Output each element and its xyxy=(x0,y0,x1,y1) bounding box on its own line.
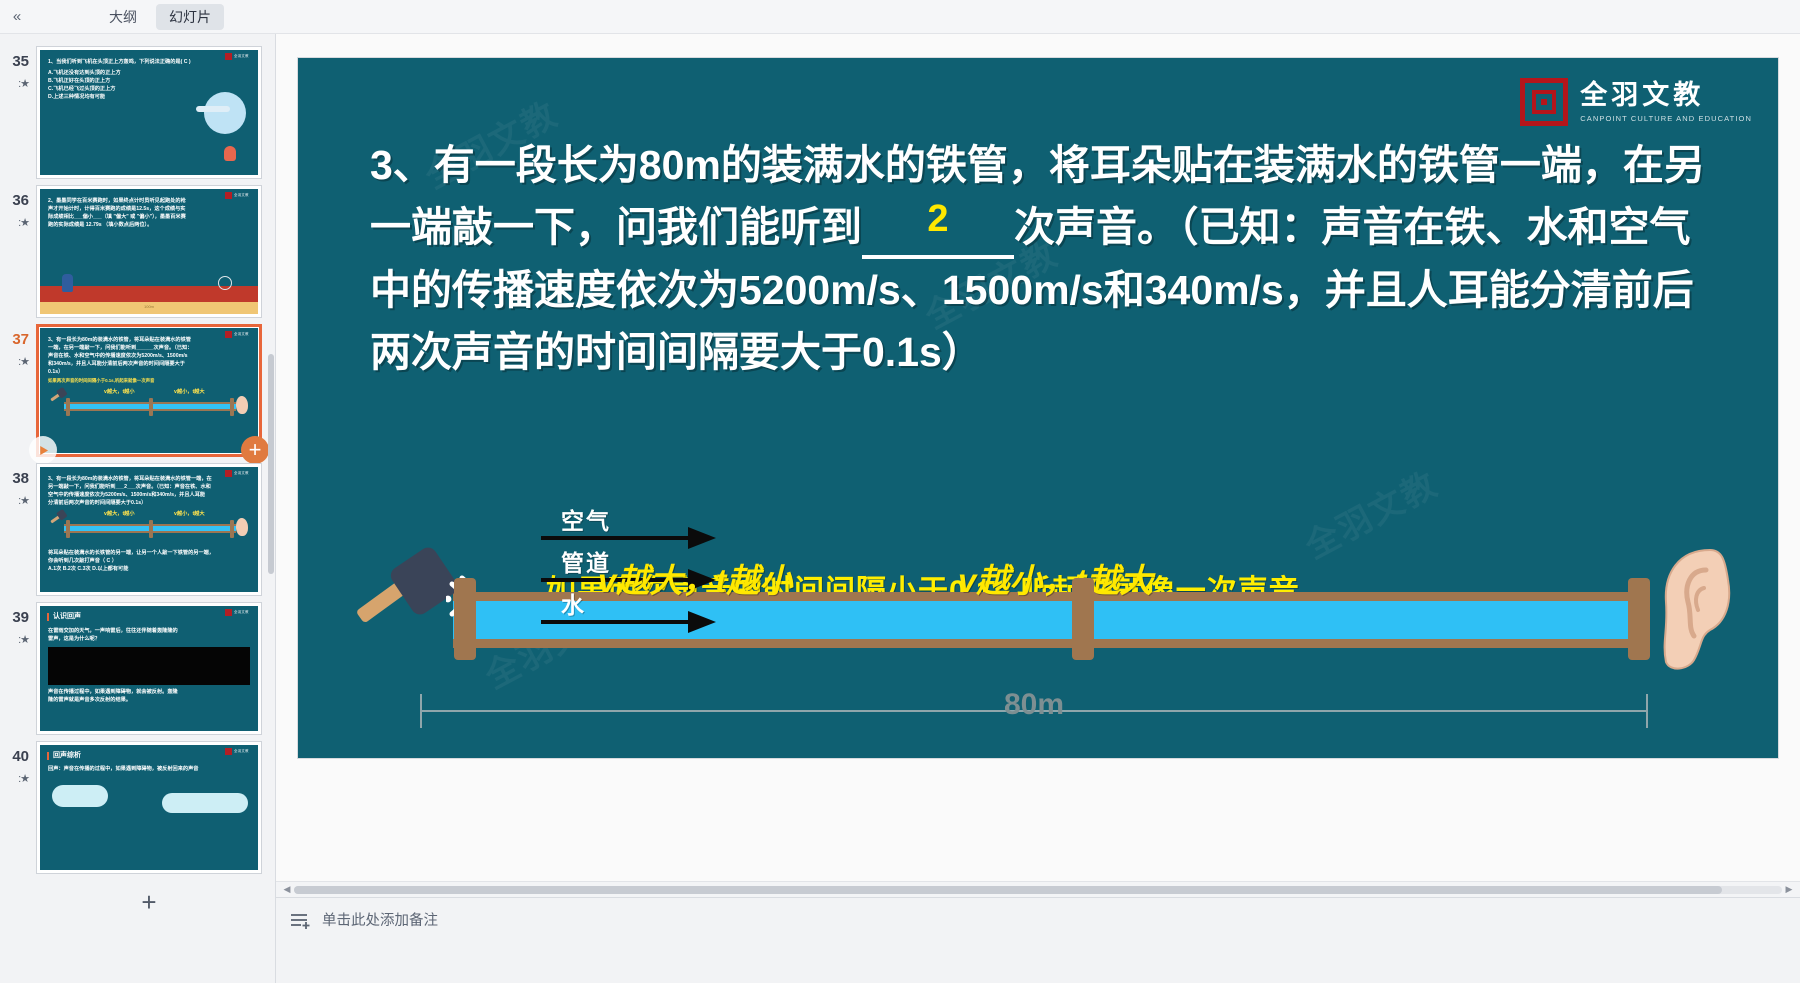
chevron-right-icon[interactable]: ▶ xyxy=(1782,884,1796,895)
ear-icon xyxy=(236,518,248,536)
star-icon[interactable]: :★ xyxy=(0,633,29,646)
cloud-shape xyxy=(52,785,108,807)
thumb-logo: 全羽文教 xyxy=(225,748,255,755)
thumbnail-canvas: 全羽文教 1、当我们听到飞机在头顶正上方轰鸣，下列说法正确的是( C ) A.飞… xyxy=(40,50,258,175)
thumb-line: 跑的实际成绩是 12.79s （填小数点后两位）。 xyxy=(48,221,251,229)
slide-number: 35 xyxy=(0,54,29,70)
star-icon[interactable]: :★ xyxy=(0,216,29,229)
notes-placeholder[interactable]: 单击此处添加备注 xyxy=(322,912,438,930)
mini-annot-right: v越小，t越大 xyxy=(174,510,205,518)
slide-number: 39 xyxy=(0,610,29,626)
hammer-icon xyxy=(50,514,62,524)
pipe-support xyxy=(1072,578,1094,660)
mini-annot-left: v越大，t越小 xyxy=(104,510,135,518)
slide-meta-40: 40 :★ xyxy=(0,741,36,785)
answer-value: 2 xyxy=(862,191,1014,249)
slide-meta-36: 36 :★ xyxy=(0,185,36,229)
star-icon[interactable]: :★ xyxy=(0,355,29,368)
star-icon[interactable]: :★ xyxy=(0,772,29,785)
pipe-support xyxy=(1628,578,1650,660)
horizontal-scrollbar[interactable]: ◀ ▶ xyxy=(276,881,1800,897)
plane-icon xyxy=(196,106,230,112)
sidebar-scrollbar[interactable] xyxy=(268,354,274,574)
thumbnail-canvas: 全羽文教 认识回声 在雷雨交加的天气，一声响雷后，往往还伴随着轰隆隆的 雷声，这… xyxy=(40,606,258,731)
thumb-note: 如果两次声音的时间间隔小于0.1s,听起来就像一次声音 xyxy=(48,378,251,385)
hammer-icon xyxy=(358,548,458,638)
add-slide-button[interactable]: + xyxy=(36,884,262,920)
thumb-subtext: 将耳朵贴在装满水的长铁管的另一端，让另一个人敲一下铁管的另一端， 你会听到几次敲… xyxy=(40,545,258,573)
slide-thumbnail-37[interactable]: 全羽文教 3、有一段长为80m的装满水的铁管，将耳朵贴在装满水的铁管 一端，在另… xyxy=(36,324,262,457)
lightning-photo xyxy=(48,647,250,685)
brand-name-cn: 全羽文教 xyxy=(1580,81,1752,111)
hammer-icon xyxy=(50,392,62,402)
star-icon[interactable]: :★ xyxy=(0,77,29,90)
thumbnail-canvas: 全羽文教 2、墨墨同学在百米赛跑时，如果终点计时员听见起跑处的枪 声才开始计时，… xyxy=(40,189,258,314)
thumb-title: 认识回声 xyxy=(53,612,81,623)
collapse-sidebar-icon[interactable]: « xyxy=(0,0,34,34)
slide-stage: 全羽文教 全羽文教 全羽文教 全羽文教 全羽文教 CANPOINT CULTUR… xyxy=(276,34,1800,983)
thumb-line: 3、有一段长为80m的装满水的铁管，将耳朵贴在装满水的铁管一端，在 xyxy=(48,475,251,483)
slide-navigator[interactable]: 35 :★ 全羽文教 1、当我们听到飞机在头顶正上方轰鸣，下列说法正确的是( C… xyxy=(0,34,276,983)
slide-meta-37: 37 :★ xyxy=(0,324,36,368)
list-item[interactable]: 39 :★ 全羽文教 认识回声 在雷雨交加的天气，一声响雷后，往往还伴随着轰隆隆… xyxy=(0,596,267,735)
thumbnail-canvas: 全羽文教 3、有一段长为80m的装满水的铁管，将耳朵贴在装满水的铁管一端，在 另… xyxy=(40,467,258,592)
slide-thumbnail-39[interactable]: 全羽文教 认识回声 在雷雨交加的天气，一声响雷后，往往还伴随着轰隆隆的 雷声，这… xyxy=(36,602,262,735)
arrow-label: 空气 xyxy=(561,502,611,536)
list-item[interactable]: 40 :★ 全羽文教 回声综析 回声：声音在传播的过程中，如果遇到障碍物，被反射… xyxy=(0,735,267,874)
thumb-text: 在雷雨交加的天气，一声响雷后，往往还伴随着轰隆隆的 雷声，这是为什么呢？ xyxy=(40,623,258,643)
star-icon[interactable]: :★ xyxy=(0,494,29,507)
stopwatch-icon xyxy=(218,276,232,290)
distance-label: 100m xyxy=(144,304,154,310)
thumbnail-canvas: 全羽文教 3、有一段长为80m的装满水的铁管，将耳朵贴在装满水的铁管 一端，在另… xyxy=(40,328,258,453)
notes-add-icon[interactable] xyxy=(290,912,312,930)
length-measure: 80m xyxy=(420,688,1648,732)
thumb-line: A.1次 B.2次 C.3次 D.以上都有可能 xyxy=(48,565,251,573)
thumb-line: 和340m/s，并且人耳能分清前后两次声音的时间间隔要大于 xyxy=(48,360,251,368)
thumb-line: 在雷雨交加的天气，一声响雷后，往往还伴随着轰隆隆的 xyxy=(48,627,251,635)
thumb-line: 将耳朵贴在装满水的长铁管的另一端，让另一个人敲一下铁管的另一端， xyxy=(48,549,251,557)
slide-meta-39: 39 :★ xyxy=(0,602,36,646)
current-slide[interactable]: 全羽文教 全羽文教 全羽文教 全羽文教 全羽文教 CANPOINT CULTUR… xyxy=(298,58,1778,758)
slide-thumbnail-36[interactable]: 全羽文教 2、墨墨同学在百米赛跑时，如果终点计时员听见起跑处的枪 声才开始计时，… xyxy=(36,185,262,318)
thumb-text: 回声：声音在传播的过程中，如果遇到障碍物，被反射回来的声音 xyxy=(40,762,258,773)
slide-meta-35: 35 :★ xyxy=(0,46,36,90)
tab-slides[interactable]: 幻灯片 xyxy=(156,4,224,30)
seal-icon xyxy=(1520,78,1568,126)
thumb-footer: 声音在传播过程中，如果遇到障碍物，就会被反射。轰隆 隆的雷声就是声音多次反射的结… xyxy=(40,685,258,704)
thumb-title: 回声综析 xyxy=(53,751,81,762)
thumb-line: 声才开始计时，计得百米赛跑的成绩是12.5s，这个成绩与实 xyxy=(48,205,251,213)
ear-icon xyxy=(236,396,248,414)
thumb-line: 另一端敲一下，问我们能听到___2___次声音。（已知：声音在铁、水和 xyxy=(48,483,251,491)
cloud-shape xyxy=(162,793,248,813)
length-label: 80m xyxy=(1004,688,1064,722)
thumb-line: 回声：声音在传播的过程中，如果遇到障碍物，被反射回来的声音 xyxy=(48,765,251,773)
thumb-line: 隆的雷声就是声音多次反射的结果。 xyxy=(48,696,251,704)
slide-number: 38 xyxy=(0,471,29,487)
notes-pane[interactable]: 单击此处添加备注 xyxy=(276,897,1800,983)
pipe-support xyxy=(454,578,476,660)
thumb-line: 你会听到几次敲打声音（ C ） xyxy=(48,557,251,565)
mini-pipe-diagram: v越大，t越小 v越小，t越大 xyxy=(46,389,252,423)
pipe-diagram: 空气 管道 水 v越大，t越小 xyxy=(358,526,1758,746)
ear-icon xyxy=(1648,544,1734,672)
brand-logo: 全羽文教 CANPOINT CULTURE AND EDUCATION xyxy=(1520,78,1752,126)
thumb-logo: 全羽文教 xyxy=(225,470,255,477)
chevron-left-icon[interactable]: ◀ xyxy=(280,884,294,895)
thumb-logo: 全羽文教 xyxy=(225,609,255,616)
thumb-line: B.飞机正好在头顶的正上方 xyxy=(48,77,251,85)
moon-illustration xyxy=(204,92,246,134)
thumb-line: 声音在铁、水和空气中的传播速度依次为5200m/s、1500m/s xyxy=(48,352,251,360)
annotation-left: v越大，t越小 xyxy=(598,554,792,602)
slide-thumbnail-35[interactable]: 全羽文教 1、当我们听到飞机在头顶正上方轰鸣，下列说法正确的是( C ) A.飞… xyxy=(36,46,262,179)
mini-annot-right: v越小，t越大 xyxy=(174,388,205,396)
thumb-logo: 全羽文教 xyxy=(225,192,255,199)
thumb-line: 1、当我们听到飞机在头顶正上方轰鸣，下列说法正确的是( C ) xyxy=(48,58,251,66)
scroll-thumb[interactable] xyxy=(294,886,1722,894)
slide-canvas-area[interactable]: 全羽文教 全羽文教 全羽文教 全羽文教 全羽文教 CANPOINT CULTUR… xyxy=(276,34,1800,881)
slide-number: 40 xyxy=(0,749,29,765)
list-item[interactable]: 38 :★ 全羽文教 3、有一段长为80m的装满水的铁管，将耳朵贴在装满水的铁管… xyxy=(0,457,267,596)
slide-meta-38: 38 :★ xyxy=(0,463,36,507)
view-tabs: 大纲 幻灯片 xyxy=(96,4,224,30)
thumbnail-canvas: 全羽文教 回声综析 回声：声音在传播的过程中，如果遇到障碍物，被反射回来的声音 xyxy=(40,745,258,870)
presentation-editor: « 大纲 幻灯片 35 :★ 全羽文教 xyxy=(0,0,1800,983)
thumb-line: 2、墨墨同学在百米赛跑时，如果终点计时员听见起跑处的枪 xyxy=(48,197,251,205)
mini-pipe-diagram: v越大，t越小 v越小，t越大 xyxy=(46,511,252,545)
thumb-line: 0.1s） xyxy=(48,368,251,376)
list-item[interactable]: 36 :★ 全羽文教 2、墨墨同学在百米赛跑时，如果终点计时员听见起跑处的枪 声… xyxy=(0,179,267,318)
slide-thumbnail-40[interactable]: 全羽文教 回声综析 回声：声音在传播的过程中，如果遇到障碍物，被反射回来的声音 xyxy=(36,741,262,874)
thumb-line: A.飞机还没有达到头顶的正上方 xyxy=(48,69,251,77)
list-item[interactable]: 37 :★ 全羽文教 3、有一段长为80m的装满水的铁管，将耳朵贴在装满水的铁管… xyxy=(0,318,267,457)
question-text: 3、有一段长为80m的装满水的铁管，将耳朵贴在装满水的铁管一端，在另一端敲一下，… xyxy=(370,134,1726,383)
mini-annot-left: v越大，t越小 xyxy=(104,388,135,396)
slide-thumbnail-list: 35 :★ 全羽文教 1、当我们听到飞机在头顶正上方轰鸣，下列说法正确的是( C… xyxy=(0,34,267,983)
runner-illustration xyxy=(62,274,73,292)
list-item[interactable]: 35 :★ 全羽文教 1、当我们听到飞机在头顶正上方轰鸣，下列说法正确的是( C… xyxy=(0,40,267,179)
slide-thumbnail-38[interactable]: 全羽文教 3、有一段长为80m的装满水的铁管，将耳朵贴在装满水的铁管一端，在 另… xyxy=(36,463,262,596)
scroll-track[interactable] xyxy=(294,886,1782,894)
thumb-line: 雷声，这是为什么呢？ xyxy=(48,635,251,643)
slide-number: 37 xyxy=(0,332,29,348)
arrow-label: 水 xyxy=(561,586,586,620)
brand-name-en: CANPOINT CULTURE AND EDUCATION xyxy=(1580,114,1752,123)
annotation-right: v越小，t越大 xyxy=(958,554,1152,602)
tab-outline[interactable]: 大纲 xyxy=(96,4,150,30)
thumb-logo: 全羽文教 xyxy=(225,53,255,60)
thumb-line: 空气中的传播速度依次为5200m/s、1500m/s和340m/s，并且人耳能 xyxy=(48,491,251,499)
thumb-line: 3、有一段长为80m的装满水的铁管，将耳朵贴在装满水的铁管 xyxy=(48,336,251,344)
thumb-line: 分清前后两次声音的时间间隔要大于0.1s） xyxy=(48,499,251,507)
slide-number: 36 xyxy=(0,193,29,209)
answer-blank[interactable]: 2 xyxy=(862,216,1014,259)
thumb-line: 际成绩相比___偏小___（填 "偏大" 或 "偏小"），墨墨百米赛 xyxy=(48,213,251,221)
person-illustration xyxy=(224,146,236,161)
top-toolbar: « 大纲 幻灯片 xyxy=(0,0,1800,34)
add-slide-after-button[interactable]: + xyxy=(241,436,269,464)
play-icon xyxy=(37,444,50,457)
thumb-logo: 全羽文教 xyxy=(225,331,255,338)
play-slide-button[interactable] xyxy=(29,436,57,464)
thumb-line: 声音在传播过程中，如果遇到障碍物，就会被反射。轰隆 xyxy=(48,688,251,696)
thumb-line: 一端，在另一端敲一下，问我们能听到______次声音。（已知： xyxy=(48,344,251,352)
